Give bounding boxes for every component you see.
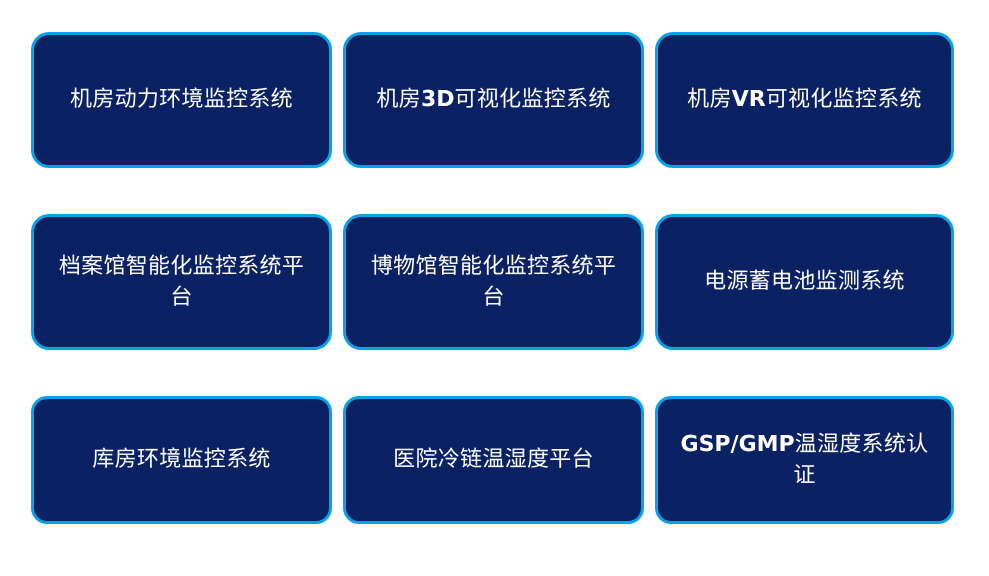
product-card-museum-intelligent-monitoring-platform[interactable]: 博物馆智能化监控系统平台 (343, 214, 644, 350)
product-card-label: 机房VR可视化监控系统 (687, 84, 922, 115)
product-card-label: 博物馆智能化监控系统平台 (360, 251, 627, 313)
product-card-vr-visual-monitoring[interactable]: 机房VR可视化监控系统 (655, 32, 954, 168)
product-card-3d-visual-monitoring[interactable]: 机房3D可视化监控系统 (343, 32, 644, 168)
label-latin-run: VR (732, 87, 766, 112)
product-card-label: GSP/GMP温湿度系统认证 (672, 429, 937, 491)
product-card-label: 电源蓄电池监测系统 (704, 266, 905, 297)
product-card-label: 档案馆智能化监控系统平台 (48, 251, 315, 313)
product-grid-board: 机房动力环境监控系统 机房3D可视化监控系统 机房VR可视化监控系统 档案馆智能… (0, 0, 989, 576)
product-card-label: 库房环境监控系统 (92, 444, 270, 475)
product-card-power-environment-monitoring[interactable]: 机房动力环境监控系统 (31, 32, 332, 168)
product-card-grid: 机房动力环境监控系统 机房3D可视化监控系统 机房VR可视化监控系统 档案馆智能… (31, 32, 953, 524)
product-card-power-battery-monitoring[interactable]: 电源蓄电池监测系统 (655, 214, 954, 350)
product-card-archive-intelligent-monitoring-platform[interactable]: 档案馆智能化监控系统平台 (31, 214, 332, 350)
label-latin-run: 3D (421, 87, 455, 112)
product-card-gsp-gmp-certification[interactable]: GSP/GMP温湿度系统认证 (655, 396, 954, 524)
product-card-label: 医院冷链温湿度平台 (393, 444, 594, 475)
product-card-warehouse-environment-monitoring[interactable]: 库房环境监控系统 (31, 396, 332, 524)
product-card-hospital-cold-chain-platform[interactable]: 医院冷链温湿度平台 (343, 396, 644, 524)
product-card-label: 机房动力环境监控系统 (70, 84, 293, 115)
label-latin-run: GSP/GMP (681, 432, 795, 457)
product-card-label: 机房3D可视化监控系统 (376, 84, 610, 115)
